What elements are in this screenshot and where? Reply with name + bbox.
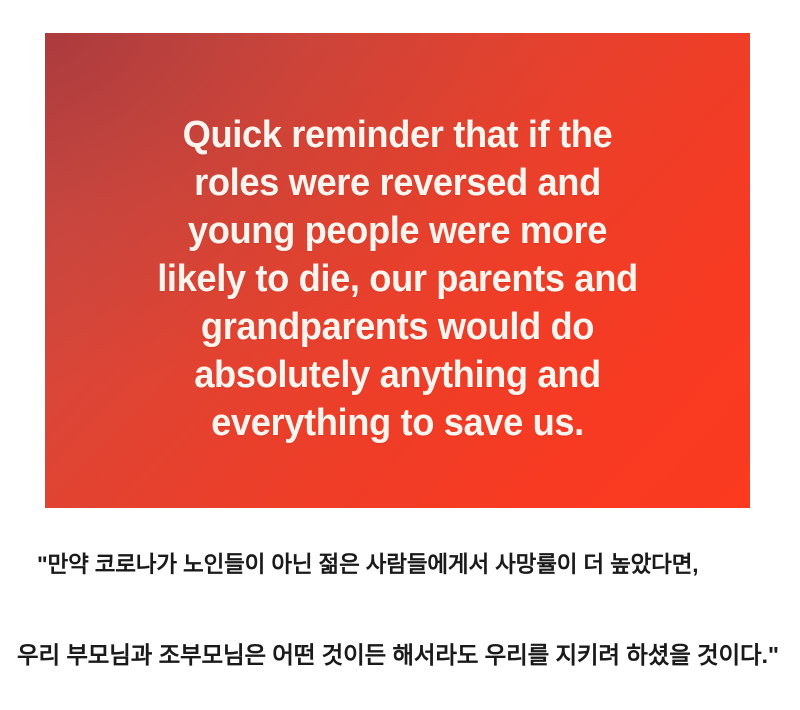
quote-image-card[interactable]: Quick reminder that if the roles were re… — [45, 33, 750, 508]
caption-line-2: 우리 부모님과 조부모님은 어떤 것이든 해서라도 우리를 지키려 하셨을 것이… — [0, 640, 800, 670]
page-root: Quick reminder that if the roles were re… — [0, 0, 800, 710]
watermark — [688, 676, 788, 702]
quote-text: Quick reminder that if the roles were re… — [61, 111, 734, 447]
caption-line-1: "만약 코로나가 노인들이 아닌 젊은 사람들에게서 사망률이 더 높았다면, — [0, 550, 800, 580]
